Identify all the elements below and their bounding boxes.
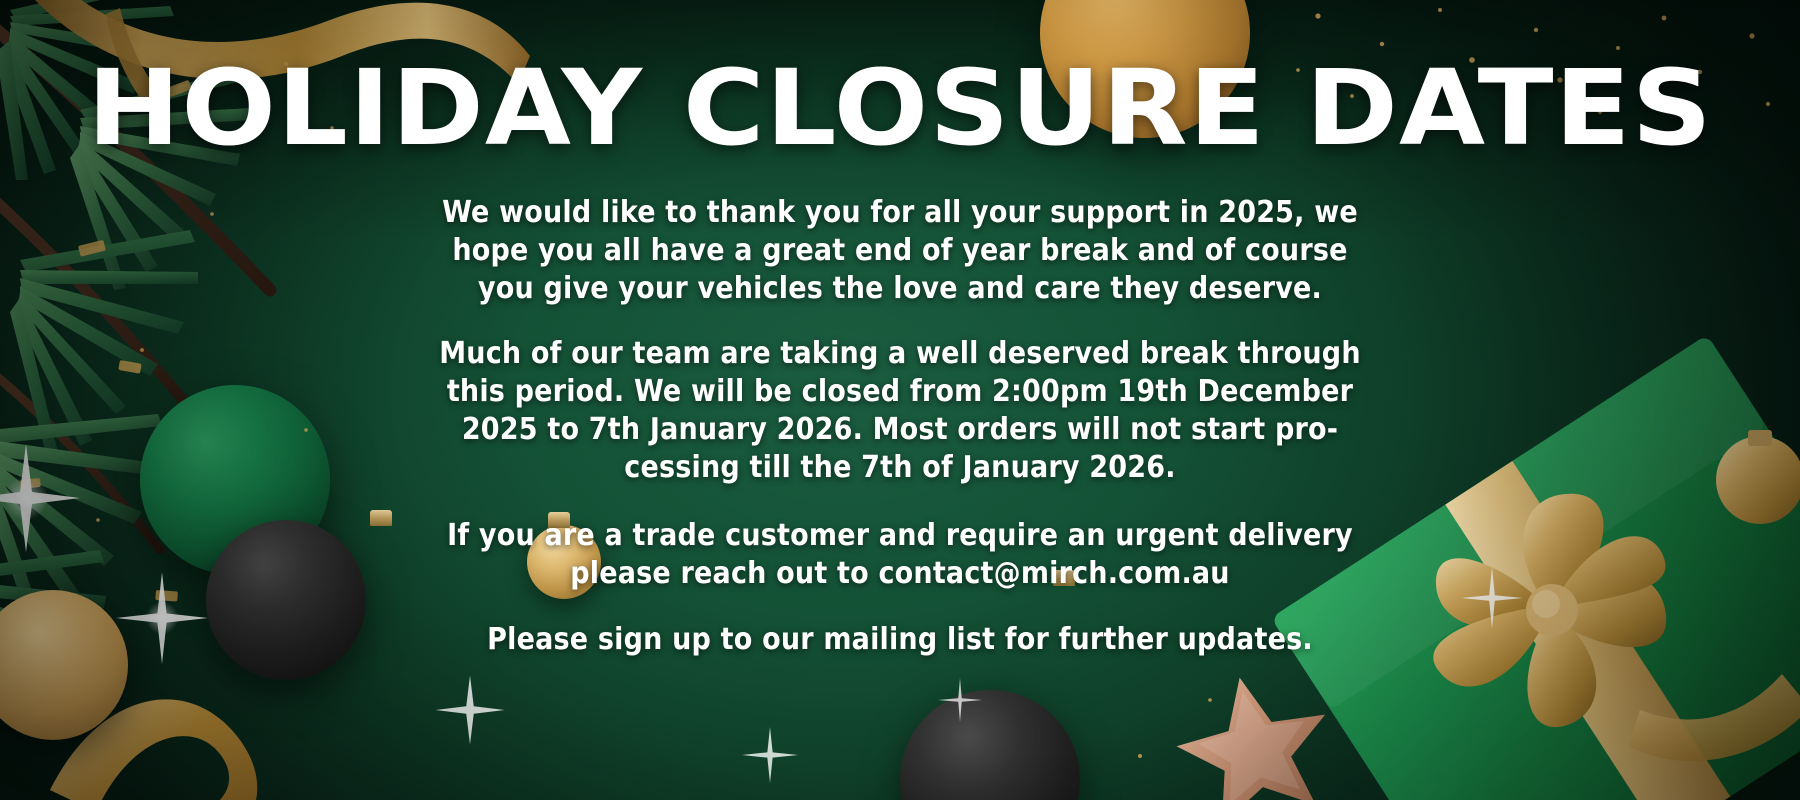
paragraph-trade-line-1: If you are a trade customer and require … bbox=[400, 517, 1400, 555]
paragraph-closure-line-4: cessing till the 7th of January 2026. bbox=[400, 449, 1400, 487]
paragraph-thanks-line-1: We would like to thank you for all your … bbox=[400, 194, 1400, 232]
paragraph-thanks-line-3: you give your vehicles the love and care… bbox=[400, 270, 1400, 308]
message-body: We would like to thank you for all your … bbox=[400, 160, 1400, 659]
paragraph-trade-contact: If you are a trade customer and require … bbox=[400, 517, 1400, 593]
page-title: HOLIDAY CLOSURE DATES bbox=[0, 0, 1800, 160]
contact-email: please reach out to contact@mirch.com.au bbox=[400, 555, 1400, 593]
holiday-closure-banner: HOLIDAY CLOSURE DATES We would like to t… bbox=[0, 0, 1800, 800]
paragraph-closure-line-2: this period. We will be closed from 2:00… bbox=[400, 373, 1400, 411]
paragraph-thanks: We would like to thank you for all your … bbox=[400, 194, 1400, 308]
paragraph-closure-line-3: 2025 to 7th January 2026. Most orders wi… bbox=[400, 411, 1400, 449]
paragraph-closure-period: Much of our team are taking a well deser… bbox=[400, 335, 1400, 487]
paragraph-mailing-line-1: Please sign up to our mailing list for f… bbox=[400, 621, 1400, 659]
paragraph-closure-line-1: Much of our team are taking a well deser… bbox=[400, 335, 1400, 373]
paragraph-mailing-list: Please sign up to our mailing list for f… bbox=[400, 621, 1400, 659]
paragraph-thanks-line-2: hope you all have a great end of year br… bbox=[400, 232, 1400, 270]
banner-content: HOLIDAY CLOSURE DATES We would like to t… bbox=[0, 0, 1800, 800]
